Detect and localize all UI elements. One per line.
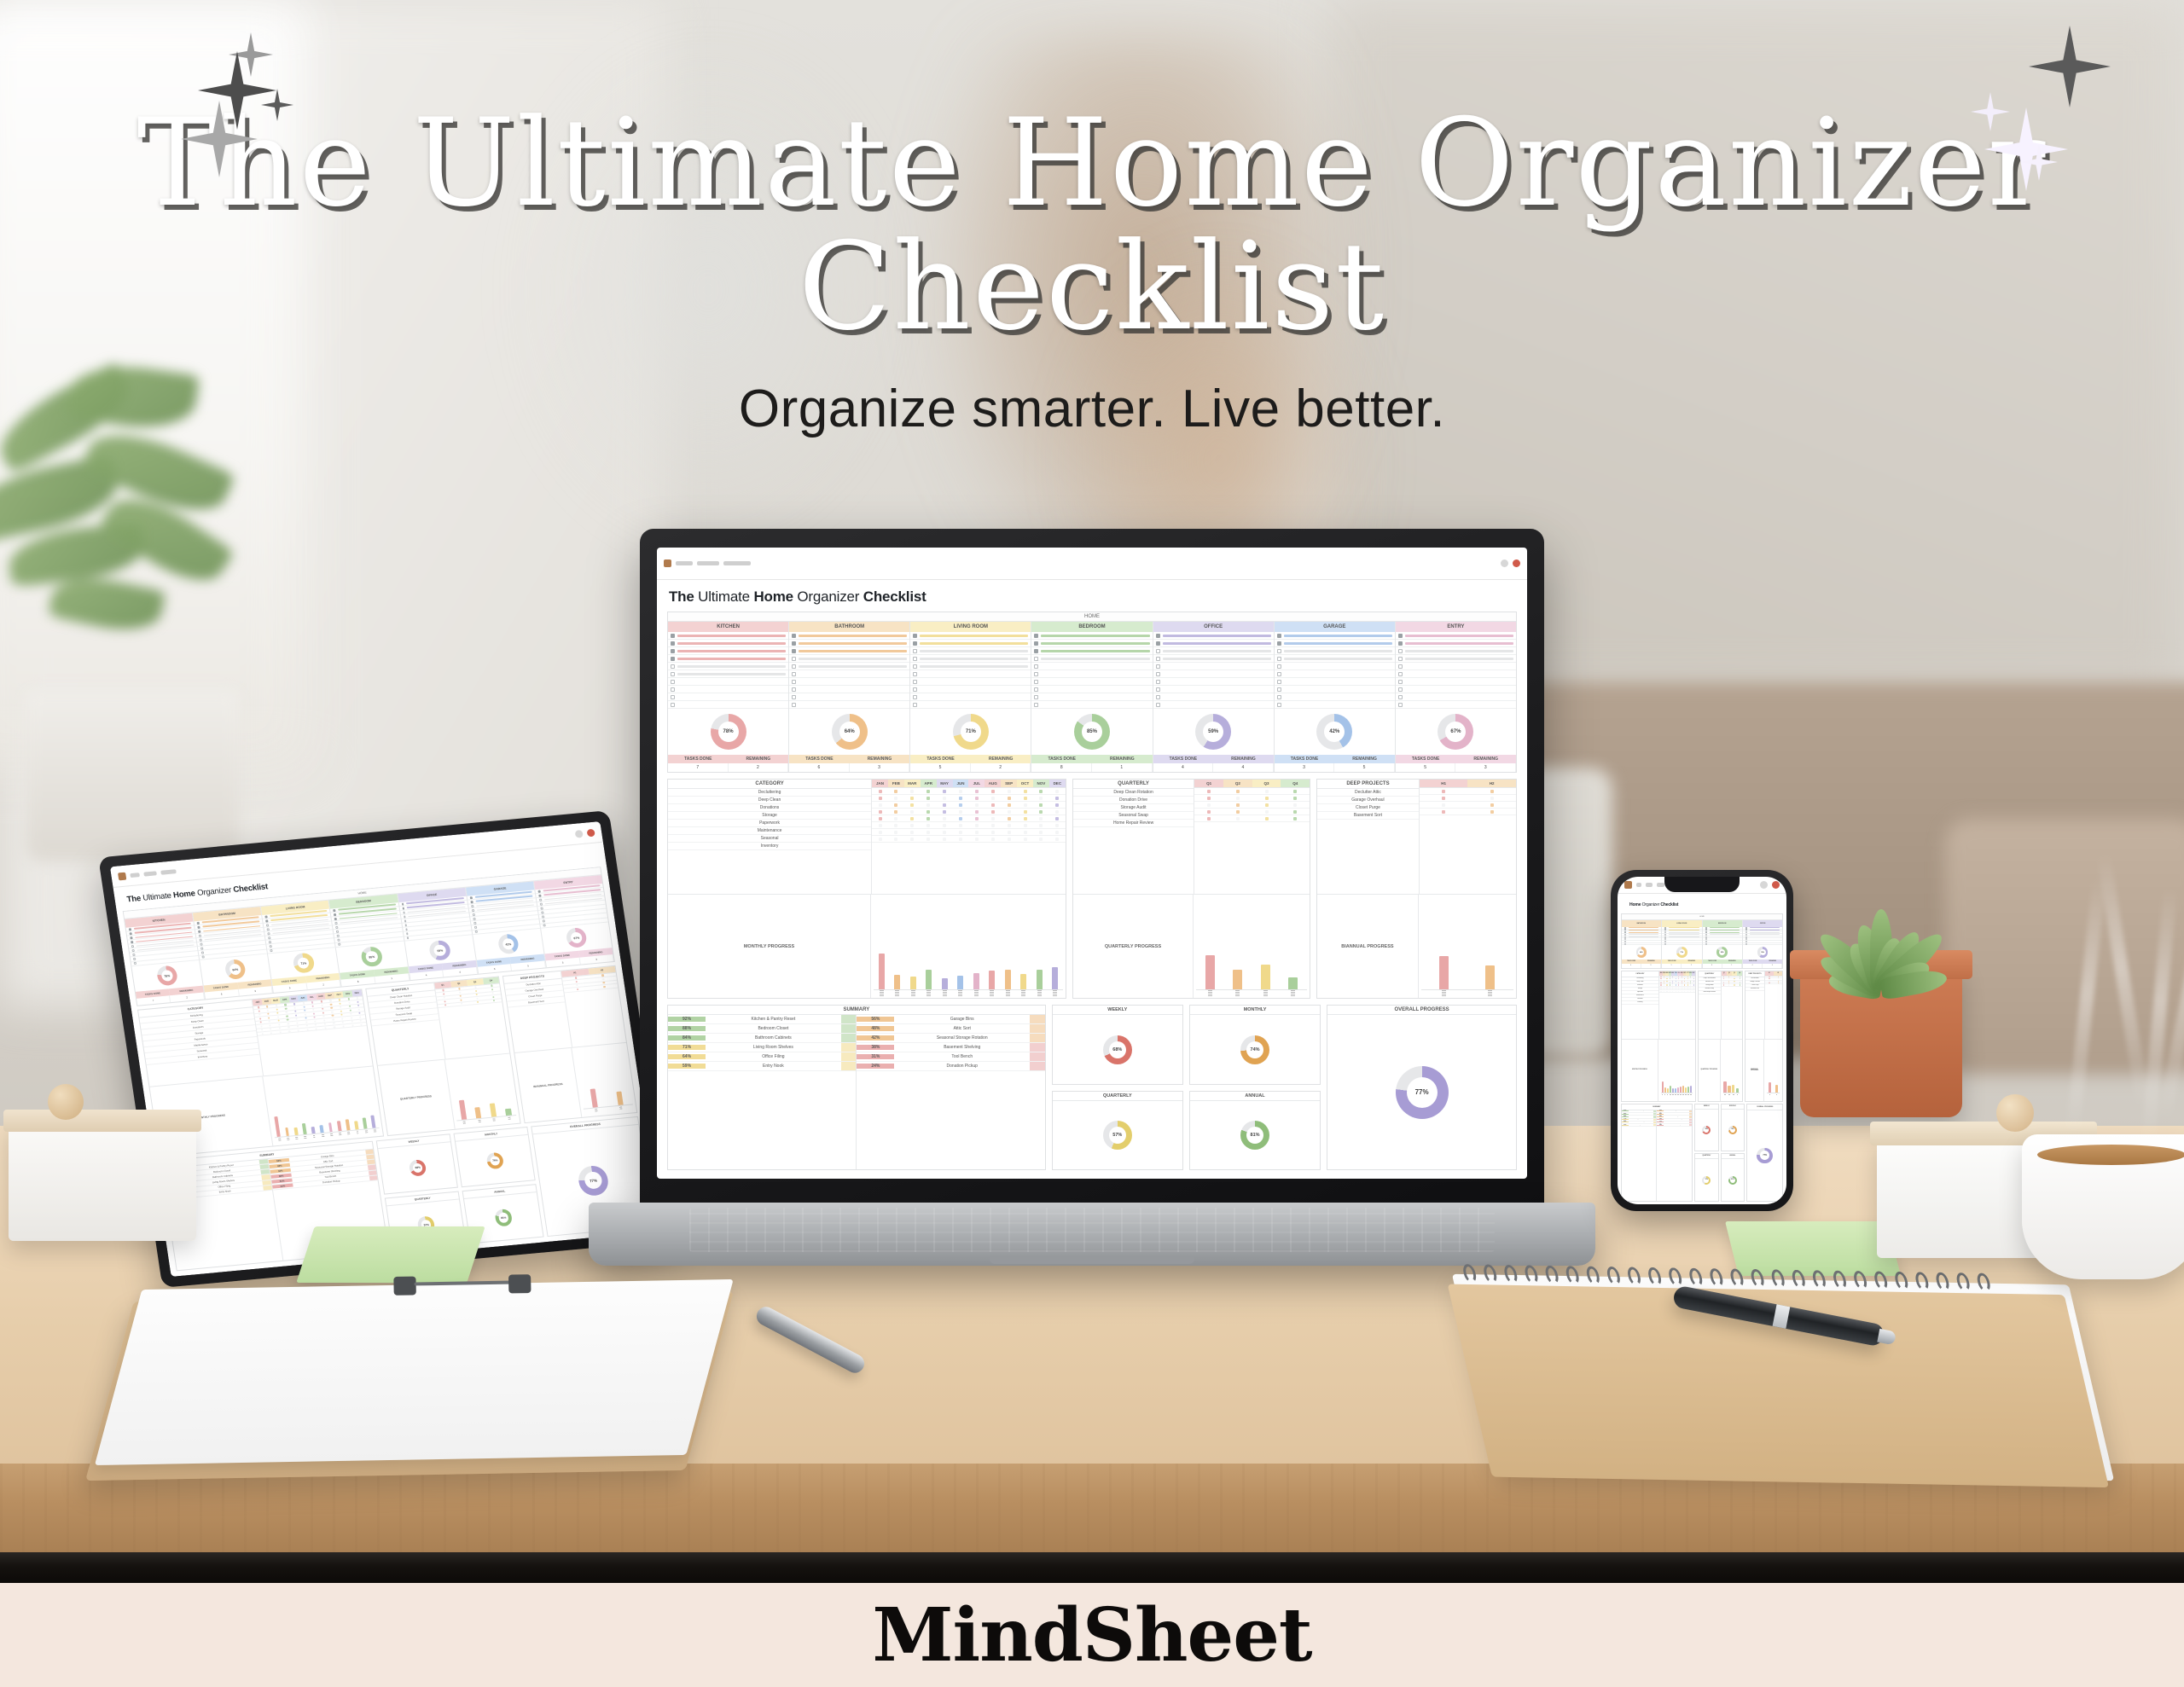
task-checkbox[interactable] — [132, 954, 135, 956]
tracker-grid-row[interactable] — [1420, 788, 1516, 795]
tracker-grid-cell[interactable] — [255, 1017, 264, 1020]
tracker-grid-cell[interactable] — [904, 824, 921, 827]
task-checkbox[interactable] — [335, 926, 338, 929]
menu-item-edit[interactable] — [143, 871, 156, 876]
tracker-grid-cell[interactable] — [339, 1025, 348, 1028]
task-row[interactable] — [1153, 701, 1274, 709]
task-checkbox[interactable] — [406, 932, 409, 935]
task-checkbox[interactable] — [129, 932, 131, 935]
tracker-grid-cell[interactable] — [937, 797, 953, 800]
room-column-bedroom[interactable]: BEDROOM — [1703, 920, 1743, 946]
tracker-grid-cell[interactable] — [968, 797, 985, 800]
tracker-grid-cell[interactable] — [985, 810, 1001, 814]
task-row[interactable] — [1275, 693, 1395, 701]
tracker-grid-cell[interactable] — [347, 1020, 357, 1023]
task-checkbox[interactable] — [1664, 943, 1666, 945]
room-column-bathroom[interactable]: BATHROOM — [1622, 920, 1662, 946]
room-column-bathroom[interactable]: BATHROOM — [193, 907, 268, 959]
task-checkbox[interactable] — [1398, 672, 1403, 676]
task-checkbox[interactable] — [792, 664, 796, 669]
tracker-grid-cell[interactable] — [1281, 810, 1310, 814]
tracker-grid-cell[interactable] — [1467, 803, 1516, 807]
tracker-grid-cell[interactable] — [985, 824, 1001, 827]
task-checkbox[interactable] — [1398, 649, 1403, 653]
settings-icon[interactable] — [575, 830, 584, 838]
tracker-grid-cell[interactable] — [1017, 790, 1033, 793]
task-checkbox[interactable] — [913, 672, 917, 676]
tracker-grid-cell[interactable] — [267, 1031, 276, 1034]
tracker-grid-cell[interactable] — [311, 1020, 320, 1023]
tracker-grid-cell[interactable] — [292, 1017, 301, 1020]
task-row[interactable] — [910, 686, 1031, 693]
tracker-grid-cell[interactable] — [921, 838, 937, 841]
task-checkbox[interactable] — [133, 962, 136, 965]
task-checkbox[interactable] — [404, 924, 407, 926]
room-column-living-room[interactable]: LIVING ROOM — [261, 901, 336, 954]
tracker-grid-cell[interactable] — [272, 1005, 282, 1007]
tracker-grid-cell[interactable] — [273, 1012, 282, 1014]
task-checkbox[interactable] — [197, 926, 200, 929]
tracker-grid-cell[interactable] — [1049, 831, 1066, 834]
task-checkbox[interactable] — [1156, 641, 1160, 646]
tracker-grid-cell[interactable] — [257, 1025, 266, 1028]
task-checkbox[interactable] — [1034, 634, 1038, 638]
tracker-grid-row[interactable] — [1194, 788, 1310, 795]
tracker-grid-cell[interactable] — [320, 1023, 329, 1025]
table-row[interactable]: 88%Bedroom Closet — [668, 1024, 856, 1034]
tracker-grid-cell[interactable] — [1774, 978, 1782, 979]
task-checkbox[interactable] — [543, 924, 545, 926]
tracker-grid-cell[interactable] — [1049, 790, 1066, 793]
tracker-grid-cell[interactable] — [1223, 797, 1252, 800]
tracker-grid-cell[interactable] — [338, 1017, 347, 1020]
tracker-grid-row[interactable] — [872, 829, 1066, 836]
task-checkbox[interactable] — [1156, 687, 1160, 692]
task-checkbox[interactable] — [404, 915, 406, 918]
task-checkbox[interactable] — [1398, 695, 1403, 699]
room-column-garage[interactable]: GARAGE — [1275, 622, 1396, 709]
task-checkbox[interactable] — [671, 695, 675, 699]
task-checkbox[interactable] — [265, 919, 268, 922]
tracker-grid-cell[interactable] — [985, 803, 1001, 807]
task-checkbox[interactable] — [1705, 927, 1707, 929]
tracker-grid-cell[interactable] — [1467, 810, 1516, 814]
task-checkbox[interactable] — [671, 672, 675, 676]
tracker-grid-cell[interactable] — [330, 1026, 340, 1029]
tracker-grid-cell[interactable] — [283, 1023, 293, 1025]
task-row[interactable] — [910, 663, 1031, 670]
tracker-grid-cell[interactable] — [1017, 817, 1033, 820]
task-checkbox[interactable] — [269, 941, 271, 943]
task-checkbox[interactable] — [1624, 941, 1626, 942]
tracker-grid-cell[interactable] — [282, 1007, 291, 1010]
table-row[interactable]: 56%Garage Bins — [857, 1015, 1044, 1024]
task-row[interactable] — [1153, 655, 1274, 663]
tracker-grid-cell[interactable] — [1049, 803, 1066, 807]
task-checkbox[interactable] — [1705, 929, 1707, 930]
task-checkbox[interactable] — [913, 657, 917, 661]
task-row[interactable] — [1396, 678, 1516, 686]
task-checkbox[interactable] — [913, 695, 917, 699]
tracker-grid-cell[interactable] — [273, 1016, 282, 1018]
tracker-grid-cell[interactable] — [1420, 810, 1468, 814]
task-checkbox[interactable] — [913, 703, 917, 707]
tracker-grid-cell[interactable] — [1001, 838, 1017, 841]
task-row[interactable] — [1275, 632, 1395, 640]
task-checkbox[interactable] — [335, 922, 338, 925]
task-checkbox[interactable] — [338, 943, 340, 946]
tracker-grid-cell[interactable] — [1033, 790, 1049, 793]
tracker-grid-cell[interactable] — [310, 1016, 319, 1018]
tracker-grid-cell[interactable] — [1692, 981, 1694, 982]
tracker-grid-row[interactable] — [872, 836, 1066, 843]
tracker-grid-row[interactable] — [872, 788, 1066, 795]
tracker-grid-cell[interactable] — [1252, 797, 1281, 800]
task-checkbox[interactable] — [1277, 687, 1281, 692]
task-checkbox[interactable] — [543, 919, 545, 922]
tracker-grid-cell[interactable] — [1001, 797, 1017, 800]
task-checkbox[interactable] — [1034, 657, 1038, 661]
tracker-grid-cell[interactable] — [1017, 810, 1033, 814]
tracker-grid-cell[interactable] — [283, 1018, 293, 1021]
task-checkbox[interactable] — [1745, 931, 1747, 933]
task-checkbox[interactable] — [1277, 641, 1281, 646]
menu-item-edit[interactable] — [697, 561, 719, 565]
task-row[interactable] — [1275, 678, 1395, 686]
tracker-grid-row[interactable] — [1194, 802, 1310, 809]
task-checkbox[interactable] — [270, 949, 272, 952]
task-checkbox[interactable] — [913, 687, 917, 692]
table-row[interactable]: 24%Donation Pickup — [857, 1062, 1044, 1071]
task-checkbox[interactable] — [1156, 634, 1160, 638]
task-checkbox[interactable] — [792, 634, 796, 638]
room-column-office[interactable]: OFFICE — [1153, 622, 1275, 709]
tracker-grid-cell[interactable] — [275, 1023, 284, 1026]
laptop-screen[interactable]: The Ultimate Home Organizer ChecklistHOM… — [657, 548, 1527, 1179]
task-row[interactable] — [1275, 670, 1395, 678]
room-column-kitchen[interactable]: KITCHEN — [125, 913, 200, 966]
tracker-grid-cell[interactable] — [921, 810, 937, 814]
task-checkbox[interactable] — [474, 926, 477, 929]
table-row[interactable]: 38%Basement Shelving — [857, 1043, 1044, 1052]
tracker-grid-cell[interactable] — [872, 838, 888, 841]
tracker-grid-cell[interactable] — [1194, 810, 1223, 814]
tracker-grid-cell[interactable] — [904, 838, 921, 841]
task-row[interactable] — [1031, 701, 1152, 709]
tracker-grid-cell[interactable] — [1774, 981, 1782, 982]
tracker-grid-cell[interactable] — [1194, 797, 1223, 800]
tracker-grid-cell[interactable] — [335, 999, 345, 1001]
task-row[interactable] — [1153, 686, 1274, 693]
task-row[interactable] — [1396, 686, 1516, 693]
tracker-grid-cell[interactable] — [937, 790, 953, 793]
app-icon[interactable] — [118, 872, 126, 880]
task-checkbox[interactable] — [266, 924, 269, 926]
task-row[interactable] — [1031, 655, 1152, 663]
tracker-grid-cell[interactable] — [1692, 987, 1694, 988]
task-checkbox[interactable] — [1277, 664, 1281, 669]
task-checkbox[interactable] — [671, 634, 675, 638]
task-row[interactable] — [789, 678, 909, 686]
task-checkbox[interactable] — [1156, 657, 1160, 661]
task-checkbox[interactable] — [131, 941, 133, 943]
task-checkbox[interactable] — [540, 903, 543, 906]
tracker-grid-cell[interactable] — [318, 1007, 328, 1010]
task-checkbox[interactable] — [1156, 672, 1160, 676]
task-checkbox[interactable] — [1277, 649, 1281, 653]
task-checkbox[interactable] — [404, 919, 406, 922]
task-checkbox[interactable] — [792, 680, 796, 684]
tracker-grid-cell[interactable] — [344, 998, 353, 1000]
tracker-grid-cell[interactable] — [329, 1022, 339, 1024]
tracker-grid-cell[interactable] — [1420, 790, 1468, 793]
room-column-living-room[interactable]: LIVING ROOM — [910, 622, 1031, 709]
tracker-grid-cell[interactable] — [264, 1009, 273, 1012]
tracker-grid-cell[interactable] — [319, 1015, 328, 1017]
task-row[interactable] — [1275, 640, 1395, 647]
table-row[interactable]: 48%Attic Sort — [857, 1024, 1044, 1034]
tracker-grid-cell[interactable] — [1252, 810, 1281, 814]
tracker-grid-row[interactable] — [872, 809, 1066, 815]
tracker-grid-cell[interactable] — [937, 831, 953, 834]
menu-item-edit[interactable] — [1646, 883, 1653, 887]
tracker-grid-cell[interactable] — [921, 803, 937, 807]
task-checkbox[interactable] — [913, 649, 917, 653]
task-checkbox[interactable] — [264, 915, 267, 918]
tracker-grid-cell[interactable] — [265, 1024, 275, 1027]
task-row[interactable] — [1396, 670, 1516, 678]
task-row[interactable] — [910, 701, 1031, 709]
task-checkbox[interactable] — [1705, 936, 1707, 938]
tracker-grid-cell[interactable] — [300, 1009, 310, 1012]
table-row[interactable]: 59%Entry Nook — [1622, 1124, 1657, 1127]
tracker-grid-cell[interactable] — [357, 1023, 366, 1026]
tracker-grid-cell[interactable] — [1420, 803, 1468, 807]
task-checkbox[interactable] — [473, 922, 476, 925]
tracker-grid-cell[interactable] — [292, 1014, 301, 1017]
tracker-grid-cell[interactable] — [985, 790, 1001, 793]
task-checkbox[interactable] — [1277, 695, 1281, 699]
laptop-trackpad[interactable] — [990, 1257, 1194, 1264]
task-checkbox[interactable] — [1034, 641, 1038, 646]
tracker-grid-cell[interactable] — [253, 1006, 263, 1008]
tracker-grid-cell[interactable] — [355, 1012, 364, 1014]
tracker-grid-cell[interactable] — [301, 1017, 311, 1019]
tracker-grid-cell[interactable] — [1033, 824, 1049, 827]
room-column-kitchen[interactable]: KITCHEN — [668, 622, 789, 709]
room-column-living-room[interactable]: LIVING ROOM — [1662, 920, 1702, 946]
task-checkbox[interactable] — [334, 913, 336, 916]
task-checkbox[interactable] — [1034, 672, 1038, 676]
tracker-grid-cell[interactable] — [1049, 810, 1066, 814]
tracker-grid-cell[interactable] — [968, 790, 985, 793]
tracker-grid-cell[interactable] — [326, 1000, 335, 1002]
tracker-grid-cell[interactable] — [1017, 838, 1033, 841]
tracker-grid-cell[interactable] — [356, 1016, 365, 1018]
tracker-grid-cell[interactable] — [1033, 810, 1049, 814]
tracker-grid-cell[interactable] — [1281, 797, 1310, 800]
task-row[interactable] — [1031, 640, 1152, 647]
tracker-grid-cell[interactable] — [937, 817, 953, 820]
task-checkbox[interactable] — [131, 949, 134, 952]
task-row[interactable] — [789, 655, 909, 663]
tracker-grid-cell[interactable] — [985, 817, 1001, 820]
task-checkbox[interactable] — [200, 943, 202, 946]
menu-item-file[interactable] — [676, 561, 693, 565]
task-row[interactable] — [1153, 647, 1274, 655]
tracker-grid-cell[interactable] — [1223, 790, 1252, 793]
tracker-grid-cell[interactable] — [438, 1004, 454, 1007]
task-checkbox[interactable] — [200, 948, 203, 950]
menu-item-file[interactable] — [130, 872, 140, 878]
menu-item-file[interactable] — [1636, 883, 1641, 887]
task-checkbox[interactable] — [1156, 680, 1160, 684]
tracker-grid-cell[interactable] — [1281, 817, 1310, 820]
tracker-grid-cell[interactable] — [1033, 838, 1049, 841]
avatar-icon[interactable] — [1513, 559, 1520, 567]
tracker-grid-cell[interactable] — [485, 999, 502, 1002]
task-row[interactable] — [789, 632, 909, 640]
task-row[interactable] — [1031, 678, 1152, 686]
table-row[interactable]: 59%Entry Nook — [668, 1062, 856, 1071]
task-checkbox[interactable] — [199, 939, 201, 942]
task-checkbox[interactable] — [472, 913, 474, 916]
task-row[interactable] — [1275, 663, 1395, 670]
task-row[interactable] — [1396, 663, 1516, 670]
task-checkbox[interactable] — [1398, 687, 1403, 692]
task-checkbox[interactable] — [792, 695, 796, 699]
tracker-grid-row[interactable] — [1765, 983, 1783, 984]
task-checkbox[interactable] — [1664, 929, 1666, 930]
tracker-grid-cell[interactable] — [327, 1006, 336, 1009]
task-checkbox[interactable] — [1624, 931, 1626, 933]
task-checkbox[interactable] — [1034, 687, 1038, 692]
tracker-grid-cell[interactable] — [1017, 803, 1033, 807]
task-checkbox[interactable] — [128, 928, 131, 930]
task-checkbox[interactable] — [1705, 931, 1707, 933]
tracker-grid-cell[interactable] — [293, 1025, 303, 1028]
tracker-grid-cell[interactable] — [348, 1024, 357, 1027]
tracker-grid-cell[interactable] — [317, 1004, 327, 1006]
tracker-grid-cell[interactable] — [888, 817, 904, 820]
tracker-grid-cell[interactable] — [321, 1027, 330, 1029]
tracker-grid-cell[interactable] — [345, 1006, 354, 1008]
table-row[interactable]: 84%Bathroom Cabinets — [668, 1034, 856, 1043]
task-checkbox[interactable] — [1624, 943, 1626, 945]
tracker-grid-cell[interactable] — [904, 817, 921, 820]
menu-item-view[interactable] — [1657, 883, 1665, 887]
tracker-grid-cell[interactable] — [1017, 824, 1033, 827]
tracker-grid-cell[interactable] — [985, 797, 1001, 800]
tracker-grid-cell[interactable] — [1252, 790, 1281, 793]
task-checkbox[interactable] — [131, 945, 133, 948]
task-checkbox[interactable] — [1277, 703, 1281, 707]
tracker-grid-cell[interactable] — [1017, 797, 1033, 800]
tracker-grid-cell[interactable] — [953, 803, 969, 807]
task-row[interactable] — [910, 655, 1031, 663]
task-row[interactable] — [668, 663, 788, 670]
sheet-toolbar[interactable] — [657, 548, 1527, 580]
task-row[interactable] — [668, 686, 788, 693]
task-checkbox[interactable] — [1745, 927, 1747, 929]
tracker-grid-row[interactable] — [1194, 795, 1310, 802]
tracker-grid-cell[interactable] — [872, 797, 888, 800]
tracker-grid-cell[interactable] — [921, 817, 937, 820]
tracker-grid-cell[interactable] — [1001, 803, 1017, 807]
tracker-grid-cell[interactable] — [888, 810, 904, 814]
tracker-grid-cell[interactable] — [1001, 831, 1017, 834]
tracker-grid-cell[interactable] — [1692, 991, 1694, 992]
tracker-grid-cell[interactable] — [1252, 817, 1281, 820]
tracker-grid-cell[interactable] — [290, 1006, 299, 1009]
tracker-grid-cell[interactable] — [308, 1005, 317, 1007]
tracker-grid-cell[interactable] — [291, 1010, 300, 1012]
tracker-grid-cell[interactable] — [1033, 831, 1049, 834]
task-checkbox[interactable] — [201, 952, 204, 954]
tracker-grid-cell[interactable] — [281, 1004, 290, 1006]
laptop-keyboard[interactable] — [689, 1208, 1495, 1252]
tracker-grid-cell[interactable] — [258, 1032, 267, 1035]
tracker-grid-cell[interactable] — [265, 1020, 275, 1023]
task-checkbox[interactable] — [1624, 934, 1626, 936]
task-checkbox[interactable] — [671, 664, 675, 669]
task-checkbox[interactable] — [1398, 664, 1403, 669]
task-checkbox[interactable] — [1277, 672, 1281, 676]
settings-icon[interactable] — [1760, 881, 1768, 889]
task-checkbox[interactable] — [1664, 934, 1666, 936]
table-row[interactable]: 92%Kitchen & Pantry Reset — [668, 1015, 856, 1024]
task-row[interactable] — [910, 678, 1031, 686]
task-checkbox[interactable] — [1745, 936, 1747, 938]
tracker-grid-cell[interactable] — [904, 803, 921, 807]
task-row[interactable] — [1031, 647, 1152, 655]
task-checkbox[interactable] — [1398, 634, 1403, 638]
task-row[interactable] — [668, 693, 788, 701]
tracker-grid-cell[interactable] — [872, 831, 888, 834]
tracker-grid-row[interactable] — [1659, 990, 1695, 992]
task-row[interactable] — [1396, 693, 1516, 701]
tracker-grid-cell[interactable] — [1692, 977, 1694, 977]
task-checkbox[interactable] — [1745, 938, 1747, 940]
task-row[interactable] — [789, 640, 909, 647]
tracker-grid-row[interactable] — [872, 822, 1066, 829]
tracker-grid-cell[interactable] — [937, 824, 953, 827]
tracker-grid-cell[interactable] — [888, 838, 904, 841]
tracker-grid-cell[interactable] — [904, 810, 921, 814]
task-row[interactable] — [1153, 632, 1274, 640]
task-checkbox[interactable] — [1156, 649, 1160, 653]
tracker-grid-row[interactable] — [872, 815, 1066, 822]
task-checkbox[interactable] — [671, 687, 675, 692]
task-row[interactable] — [668, 678, 788, 686]
task-checkbox[interactable] — [792, 641, 796, 646]
tracker-grid-cell[interactable] — [937, 803, 953, 807]
tracker-grid-cell[interactable] — [1001, 810, 1017, 814]
tracker-grid-cell[interactable] — [937, 810, 953, 814]
tracker-grid-cell[interactable] — [302, 1021, 311, 1023]
task-row[interactable] — [789, 686, 909, 693]
tracker-grid-cell[interactable] — [953, 810, 969, 814]
task-checkbox[interactable] — [1624, 927, 1626, 929]
tracker-grid-cell[interactable] — [1194, 803, 1223, 807]
tracker-grid-cell[interactable] — [1194, 790, 1223, 793]
task-checkbox[interactable] — [792, 687, 796, 692]
task-checkbox[interactable] — [1624, 938, 1626, 940]
room-column-bathroom[interactable]: BATHROOM — [789, 622, 910, 709]
tracker-grid-cell[interactable] — [888, 803, 904, 807]
tracker-grid-cell[interactable] — [293, 1022, 302, 1024]
tracker-grid-cell[interactable] — [346, 1009, 355, 1012]
